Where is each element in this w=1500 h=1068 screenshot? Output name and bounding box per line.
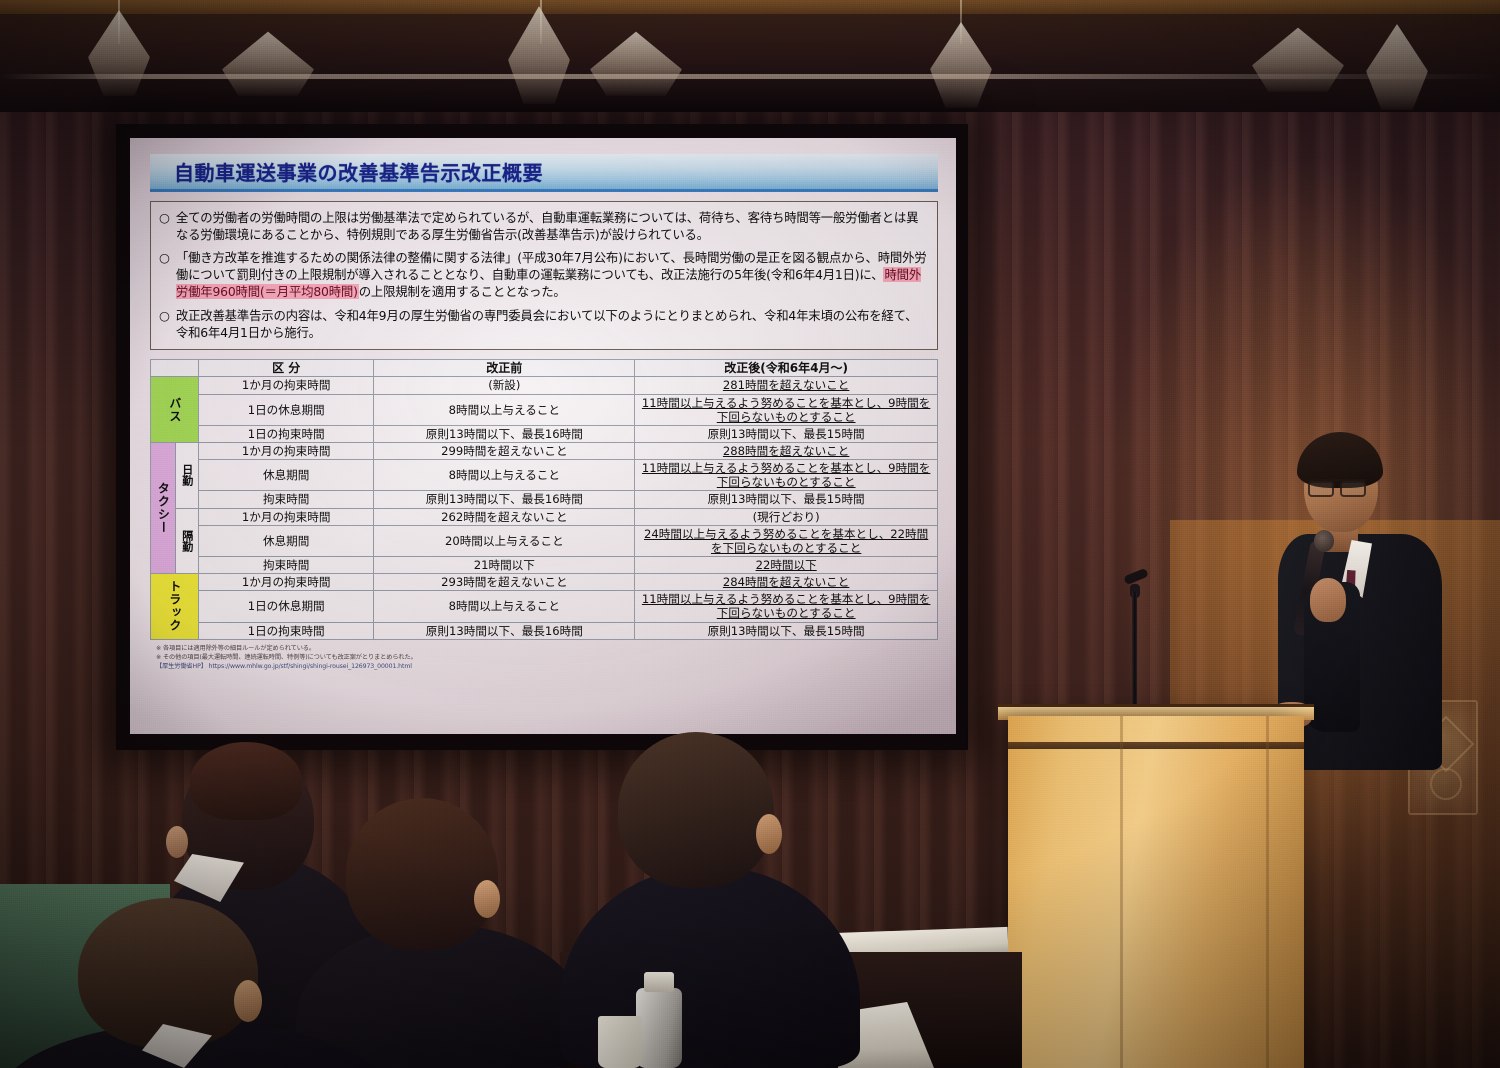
slide-footnotes: ※ 各項目には適用除外等の細目ルールが定められている。 ※ その他の項目(最大運… [150,645,938,672]
ceiling-light [508,6,570,104]
cell-before: 8時間以上与えること [374,394,635,425]
ceiling-light [1366,24,1428,110]
ceiling-light [1252,22,1344,92]
ceiling-band [0,0,1500,14]
cell-category: 休息期間 [199,525,374,556]
glasses-icon [1308,479,1366,492]
ceiling-light [222,26,314,96]
ceiling-light [930,22,992,108]
podium [1008,716,1304,1068]
cell-before: 原則13時間以下、最長16時間 [374,622,635,639]
bullet-item: ○ 「働き方改革を推進するための関係法律の整備に関する法律」(平成30年7月公布… [159,249,927,300]
table-header-row: 区 分 改正前 改正後(令和6年4月～) [151,359,938,377]
table-row: 休息期間 8時間以上与えること 11時間以上与えるよう努めることを基本とし、9時… [151,460,938,491]
cell-category: 1日の休息期間 [199,591,374,622]
cell-after: 11時間以上与えるよう努めることを基本とし、9時間を下回らないものとすること [635,394,938,425]
bullet-marker: ○ [159,249,170,300]
cell-after: 原則13時間以下、最長15時間 [635,622,938,639]
table-header-after: 改正後(令和6年4月～) [635,359,938,377]
cell-category: 1か月の拘束時間 [199,377,374,394]
audience-head [618,732,774,888]
audience-member [36,898,356,1068]
cell-after: (現行どおり) [635,508,938,525]
presentation-slide: 自動車運送事業の改善基準告示改正概要 ○ 全ての労働者の労働時間の上限は労働基準… [150,154,938,720]
table-row: 休息期間 20時間以上与えること 24時間以上与えるよう努めることを基本とし、2… [151,525,938,556]
cell-after: 原則13時間以下、最長15時間 [635,491,938,508]
group-label-taxi: タクシー [151,442,176,573]
podium-seam [1266,716,1269,1068]
cell-before: 8時間以上与えること [374,460,635,491]
audience-ear [474,880,500,918]
bullet-text: 「働き方改革を推進するための関係法律の整備に関する法律」(平成30年7月公布)に… [176,249,927,300]
table-row: タクシー 日勤 1か月の拘束時間 299時間を超えないこと 288時間を超えない… [151,442,938,459]
bullet-text: 全ての労働者の労働時間の上限は労働基準法で定められているが、自動車運転業務につい… [176,209,927,243]
cell-category: 1か月の拘束時間 [199,574,374,591]
cell-before: 299時間を超えないこと [374,442,635,459]
group-label-truck: トラック [151,574,199,640]
bullet-item: ○ 改正改善基準告示の内容は、令和4年9月の厚生労働省の専門委員会において以下の… [159,307,927,341]
projection-screen-surface: 自動車運送事業の改善基準告示改正概要 ○ 全ての労働者の労働時間の上限は労働基準… [130,138,956,734]
slide-title-bar: 自動車運送事業の改善基準告示改正概要 [150,154,938,192]
table-corner-cell [151,359,199,377]
cell-after: 24時間以上与えるよう努めることを基本とし、22時間を下回らないものとすること [635,525,938,556]
conference-room-scene: 自動車運送事業の改善基準告示改正概要 ○ 全ての労働者の労働時間の上限は労働基準… [0,0,1500,1068]
cell-before: (新設) [374,377,635,394]
ceiling-light [88,10,150,96]
audience-ear [756,814,782,854]
cell-after: 284時間を超えないこと [635,574,938,591]
table-row: 1日の休息期間 8時間以上与えること 11時間以上与えるよう努めることを基本とし… [151,394,938,425]
bullet-marker: ○ [159,307,170,341]
bottle-cap [644,972,674,992]
cell-after: 11時間以上与えるよう努めることを基本とし、9時間を下回らないものとすること [635,591,938,622]
subgroup-label-kakukin: 隔勤 [176,508,199,574]
cell-after: 11時間以上与えるよう努めることを基本とし、9時間を下回らないものとすること [635,460,938,491]
bullet-marker: ○ [159,209,170,243]
cell-before: 20時間以上与えること [374,525,635,556]
table-row: 1日の休息期間 8時間以上与えること 11時間以上与えるよう努めることを基本とし… [151,591,938,622]
podium-trim [1008,742,1304,749]
footnote-line: ※ 各項目には適用除外等の細目ルールが定められている。 [156,645,938,654]
slide-bullet-box: ○ 全ての労働者の労働時間の上限は労働基準法で定められているが、自動車運転業務に… [150,201,938,350]
audience-ear [166,826,188,858]
cell-category: 1日の休息期間 [199,394,374,425]
cell-before: 21時間以下 [374,556,635,573]
speaker-hand [1310,578,1346,622]
table-row: 拘束時間 原則13時間以下、最長16時間 原則13時間以下、最長15時間 [151,491,938,508]
cell-after: 281時間を超えないこと [635,377,938,394]
cell-category: 1か月の拘束時間 [199,508,374,525]
paper-cup [598,1016,642,1068]
table-row: 1日の拘束時間 原則13時間以下、最長16時間 原則13時間以下、最長15時間 [151,622,938,639]
group-label-bus: バス [151,377,199,443]
cell-before: 8時間以上与えること [374,591,635,622]
table-header-before: 改正前 [374,359,635,377]
ceiling-light [590,26,682,96]
audience-hair-bun [190,742,302,820]
subgroup-label-nikkin: 日勤 [176,442,199,508]
water-bottle [636,988,682,1068]
table-header-category: 区 分 [199,359,374,377]
cell-before: 293時間を超えないこと [374,574,635,591]
cell-before: 原則13時間以下、最長16時間 [374,491,635,508]
bullet-item: ○ 全ての労働者の労働時間の上限は労働基準法で定められているが、自動車運転業務に… [159,209,927,243]
microphone-head [1314,530,1334,552]
regulation-table: 区 分 改正前 改正後(令和6年4月～) バス 1か月の拘束時間 (新設) 28… [150,359,938,640]
audience-ear [234,980,262,1022]
table-row: トラック 1か月の拘束時間 293時間を超えないこと 284時間を超えないこと [151,574,938,591]
mic-stand-boom [1123,568,1149,585]
bullet-text: 改正改善基準告示の内容は、令和4年9月の厚生労働省の専門委員会において以下のよう… [176,307,927,341]
slide-title: 自動車運送事業の改善基準告示改正概要 [174,157,543,186]
projection-screen-frame: 自動車運送事業の改善基準告示改正概要 ○ 全ての労働者の労働時間の上限は労働基準… [116,124,968,750]
cell-category: 休息期間 [199,460,374,491]
cell-category: 1か月の拘束時間 [199,442,374,459]
cell-after: 22時間以下 [635,556,938,573]
cell-category: 拘束時間 [199,556,374,573]
podium-seam [1120,716,1123,1068]
cell-after: 原則13時間以下、最長15時間 [635,425,938,442]
cell-before: 原則13時間以下、最長16時間 [374,425,635,442]
ceiling [0,0,1500,112]
table-row: 拘束時間 21時間以下 22時間以下 [151,556,938,573]
audience-head [346,798,498,950]
cell-category: 拘束時間 [199,491,374,508]
cell-after: 288時間を超えないこと [635,442,938,459]
cell-category: 1日の拘束時間 [199,622,374,639]
cell-before: 262時間を超えないこと [374,508,635,525]
table-row: バス 1か月の拘束時間 (新設) 281時間を超えないこと [151,377,938,394]
footnote-line: ※ その他の項目(最大運転時間、連続運転時間、特例等)についても改正案がとりまと… [156,654,938,663]
table-row: 隔勤 1か月の拘束時間 262時間を超えないこと (現行どおり) [151,508,938,525]
footnote-url: 【厚生労働省HP】 https://www.mhlw.go.jp/stf/shi… [156,663,938,672]
table-row: 1日の拘束時間 原則13時間以下、最長16時間 原則13時間以下、最長15時間 [151,425,938,442]
cell-category: 1日の拘束時間 [199,425,374,442]
